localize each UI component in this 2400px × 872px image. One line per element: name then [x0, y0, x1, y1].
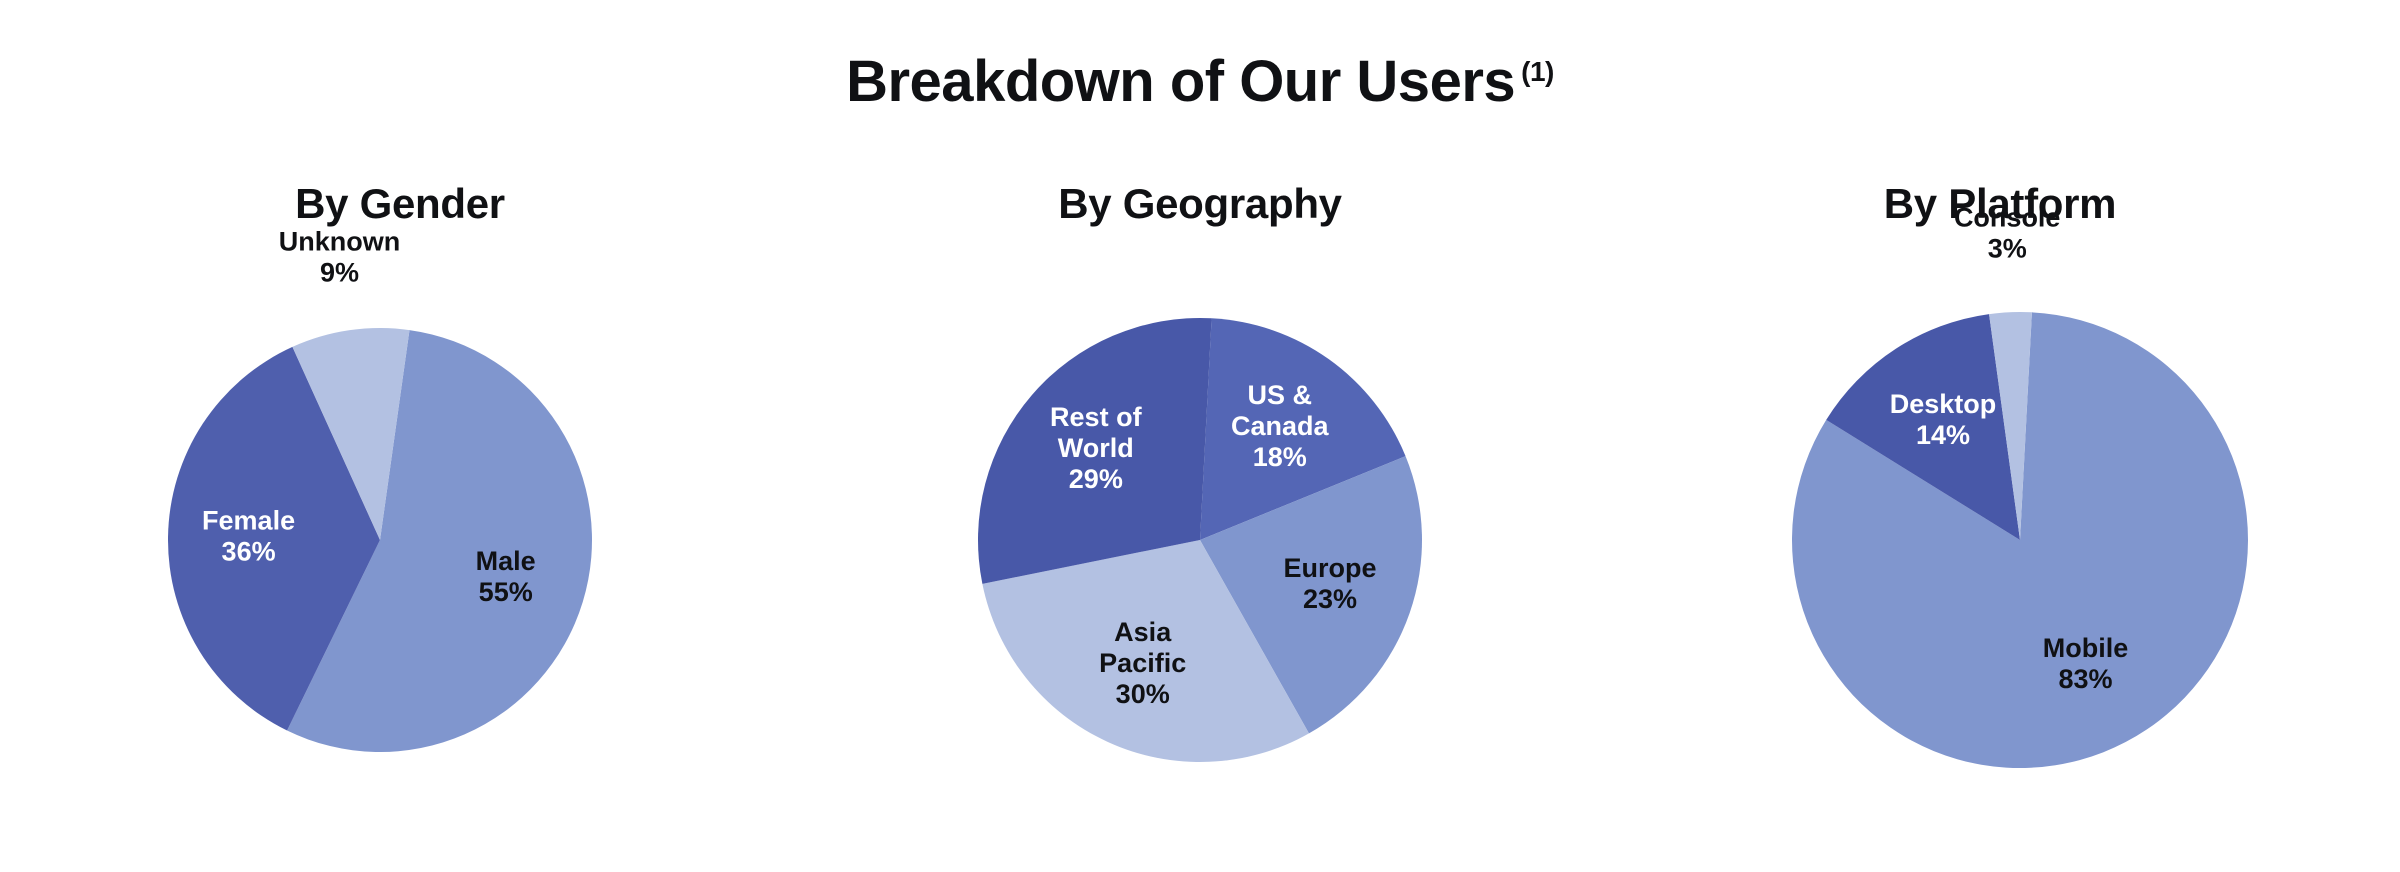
chart-by-geography: By Geography US &Canada18%Europe23%AsiaP… — [800, 180, 1600, 840]
slide-canvas: Breakdown of Our Users(1) By Gender Male… — [0, 0, 2400, 872]
pie-chart-by-geography: US &Canada18%Europe23%AsiaPacific30%Rest… — [800, 240, 1600, 840]
chart-by-gender: By Gender Male55%Female36%Unknown9% — [0, 180, 800, 840]
pie-chart-by-gender: Male55%Female36%Unknown9% — [0, 240, 800, 840]
pie-slice-label: Unknown9% — [279, 226, 401, 287]
pie-chart-by-platform: Mobile83%Desktop14%Console3% — [1600, 240, 2400, 840]
chart-title-by-gender: By Gender — [0, 180, 800, 228]
pie-wrap-by-geography: US &Canada18%Europe23%AsiaPacific30%Rest… — [800, 240, 1600, 840]
charts-row: By Gender Male55%Female36%Unknown9% By G… — [0, 180, 2400, 840]
page-title: Breakdown of Our Users(1) — [0, 48, 2400, 115]
pie-slice-label: Male55% — [476, 546, 536, 607]
chart-by-platform: By Platform Mobile83%Desktop14%Console3% — [1600, 180, 2400, 840]
pie-slice-label: Console3% — [1954, 202, 2061, 263]
pie-wrap-by-gender: Male55%Female36%Unknown9% — [0, 240, 800, 840]
chart-title-by-geography: By Geography — [800, 180, 1600, 228]
pie-wrap-by-platform: Mobile83%Desktop14%Console3% — [1600, 240, 2400, 840]
footnote-marker: (1) — [1521, 56, 1554, 87]
page-title-text: Breakdown of Our Users — [846, 49, 1515, 114]
